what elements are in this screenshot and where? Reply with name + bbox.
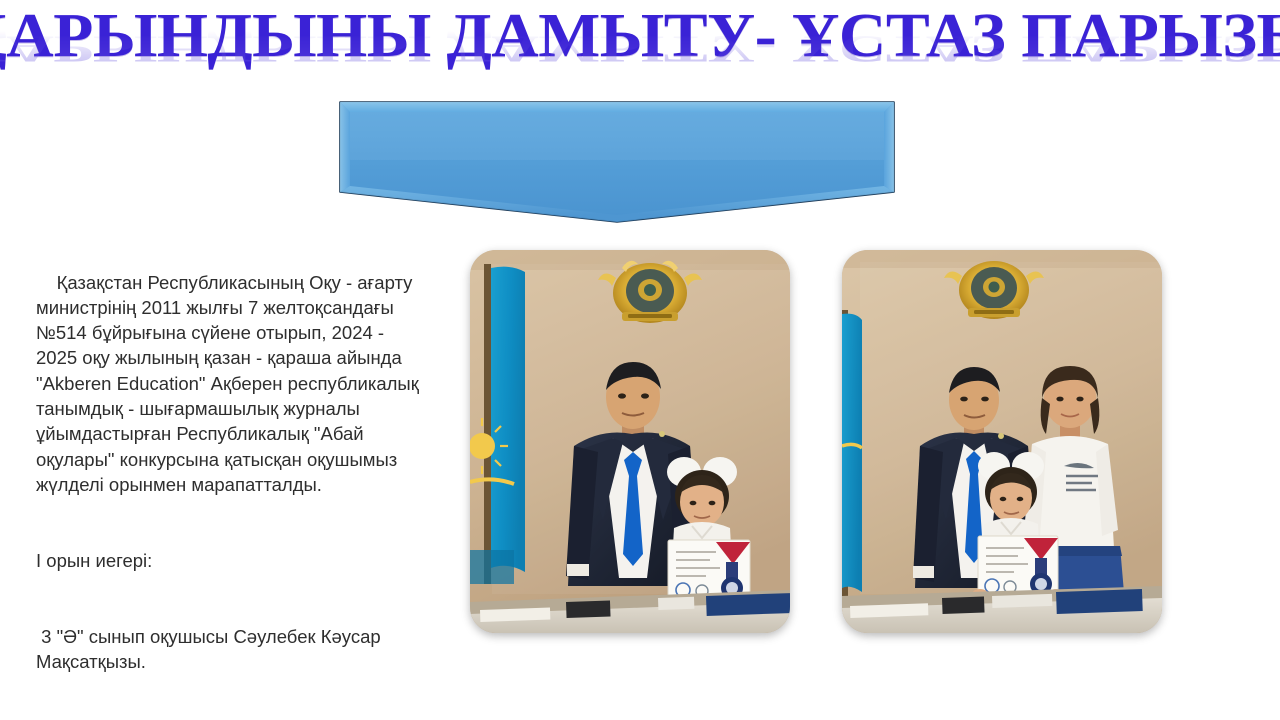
award-photo-director-and-student — [470, 250, 790, 633]
page-title: ДАРЫНДЫНЫ ДАМЫТУ- ҰСТАЗ ПАРЫЗЫ — [0, 2, 1280, 70]
kazakhstan-flag — [842, 310, 862, 600]
down-arrow-banner — [338, 100, 896, 224]
body-paragraph-3: 3 "Ә" сынып оқушысы Сәулебек Кәусар Мақс… — [36, 624, 456, 675]
presentation-slide: ДАРЫНДЫНЫ ДАМЫТУ- ҰСТАЗ ПАРЫЗЫ ДАРЫНДЫНЫ… — [0, 0, 1280, 720]
slide-title-wordart: ДАРЫНДЫНЫ ДАМЫТУ- ҰСТАЗ ПАРЫЗЫ ДАРЫНДЫНЫ… — [0, 2, 1280, 97]
slide-body-text: Қазақстан Республикасының Оқу - ағарту м… — [36, 219, 456, 720]
body-paragraph-1: Қазақстан Республикасының Оқу - ағарту м… — [36, 270, 456, 498]
award-photo-director-student-and-teacher — [842, 250, 1162, 633]
body-paragraph-2: І орын иегері: — [36, 548, 456, 573]
